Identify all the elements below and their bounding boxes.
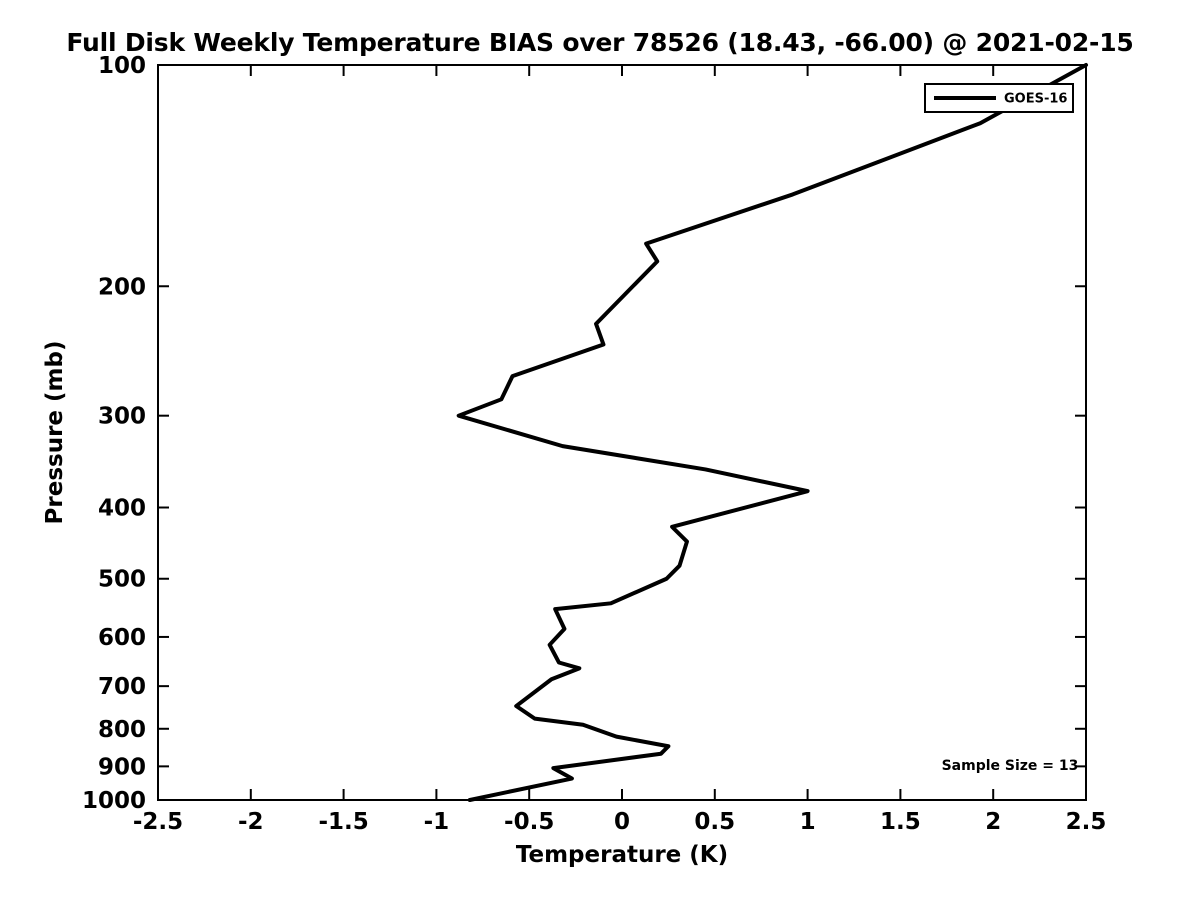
y-tick-label: 200: [98, 274, 146, 300]
legend-label-goes-16: GOES-16: [1004, 92, 1067, 107]
x-tick-label: -1.5: [318, 809, 368, 835]
x-tick-label: -1: [424, 809, 450, 835]
axes-frame: [158, 65, 1086, 800]
x-tick-label: 0.5: [694, 809, 735, 835]
y-axis-title: Pressure (mb): [42, 341, 68, 525]
y-tick-label: 1000: [82, 788, 146, 814]
x-axis-ticks: -2.5-2-1.5-1-0.500.511.522.5: [133, 65, 1107, 835]
x-tick-label: 0: [614, 809, 630, 835]
y-tick-label: 300: [98, 404, 146, 430]
y-tick-label: 900: [98, 754, 146, 780]
y-tick-label: 800: [98, 717, 146, 743]
sample-size-annotation: Sample Size = 13: [942, 758, 1079, 774]
x-tick-label: -0.5: [504, 809, 554, 835]
y-tick-label: 100: [98, 53, 146, 79]
y-tick-label: 400: [98, 496, 146, 522]
legend[interactable]: GOES-16: [925, 84, 1073, 112]
x-tick-label: 1: [800, 809, 816, 835]
data-series-group: [459, 65, 1086, 800]
chart-figure: Full Disk Weekly Temperature BIAS over 7…: [0, 0, 1200, 900]
data-line-goes-16: [459, 65, 1086, 800]
y-axis-ticks: 1002003004005006007008009001000: [82, 53, 1086, 814]
x-tick-label: 2.5: [1066, 809, 1107, 835]
y-tick-label: 500: [98, 567, 146, 593]
x-tick-label: 1.5: [880, 809, 921, 835]
x-tick-label: -2: [238, 809, 264, 835]
x-tick-label: 2: [985, 809, 1001, 835]
y-tick-label: 700: [98, 674, 146, 700]
y-tick-label: 600: [98, 625, 146, 651]
x-axis-title: Temperature (K): [516, 842, 728, 868]
plot-canvas: -2.5-2-1.5-1-0.500.511.522.5 10020030040…: [0, 0, 1200, 900]
